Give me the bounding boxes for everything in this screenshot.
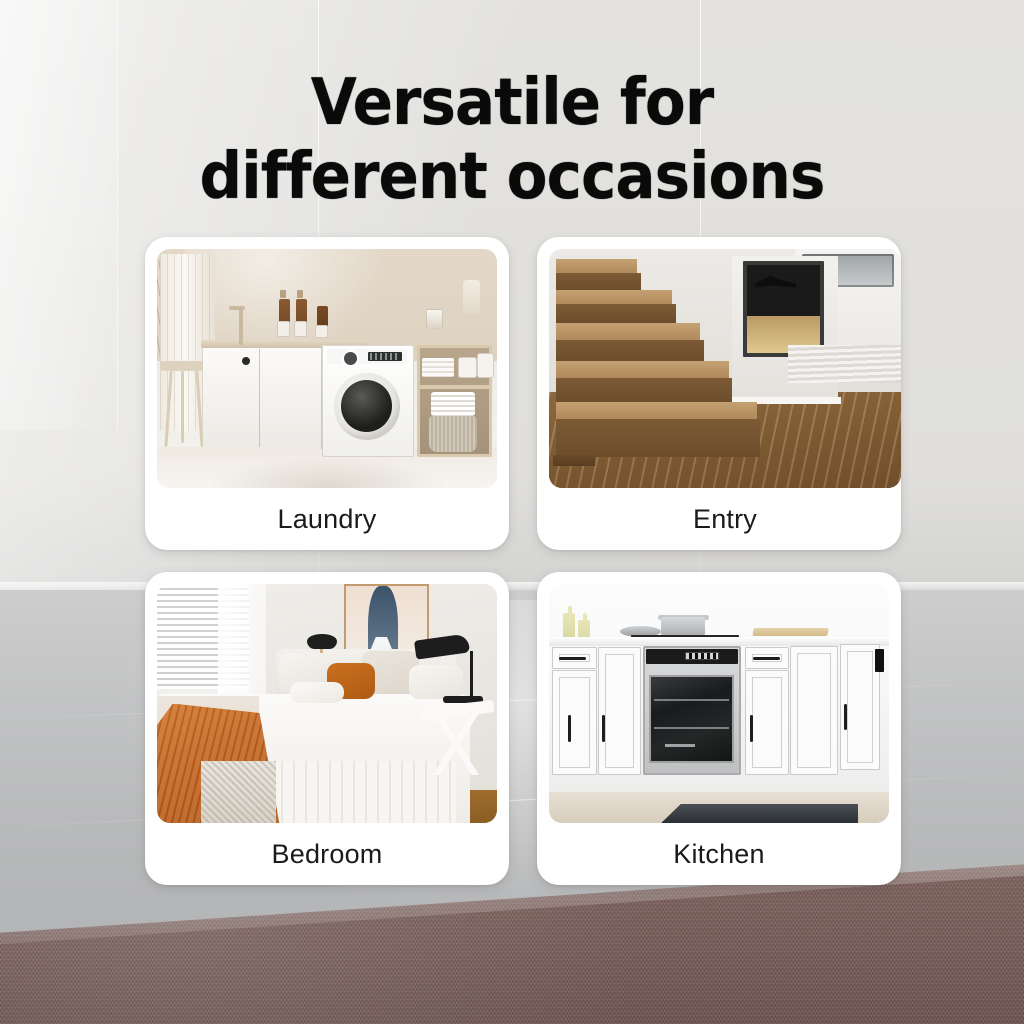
bedroom-label: Bedroom <box>157 823 497 885</box>
kitchen-photo <box>549 584 889 823</box>
laundry-photo <box>157 249 497 488</box>
page-title: Versatile for different occasions <box>36 66 988 214</box>
kitchen-label: Kitchen <box>549 823 889 885</box>
page-title-line-2: different occasions <box>36 140 988 214</box>
occasion-card-grid: Laundry <box>145 237 901 885</box>
laundry-label: Laundry <box>157 488 497 550</box>
occasion-card-bedroom[interactable]: Bedroom <box>145 572 509 885</box>
occasion-card-entry[interactable]: Entry <box>537 237 901 550</box>
bedroom-photo <box>157 584 497 823</box>
page-title-line-1: Versatile for <box>36 66 988 140</box>
occasion-card-laundry[interactable]: Laundry <box>145 237 509 550</box>
entry-label: Entry <box>549 488 901 550</box>
occasion-card-kitchen[interactable]: Kitchen <box>537 572 901 885</box>
entry-photo <box>549 249 901 488</box>
